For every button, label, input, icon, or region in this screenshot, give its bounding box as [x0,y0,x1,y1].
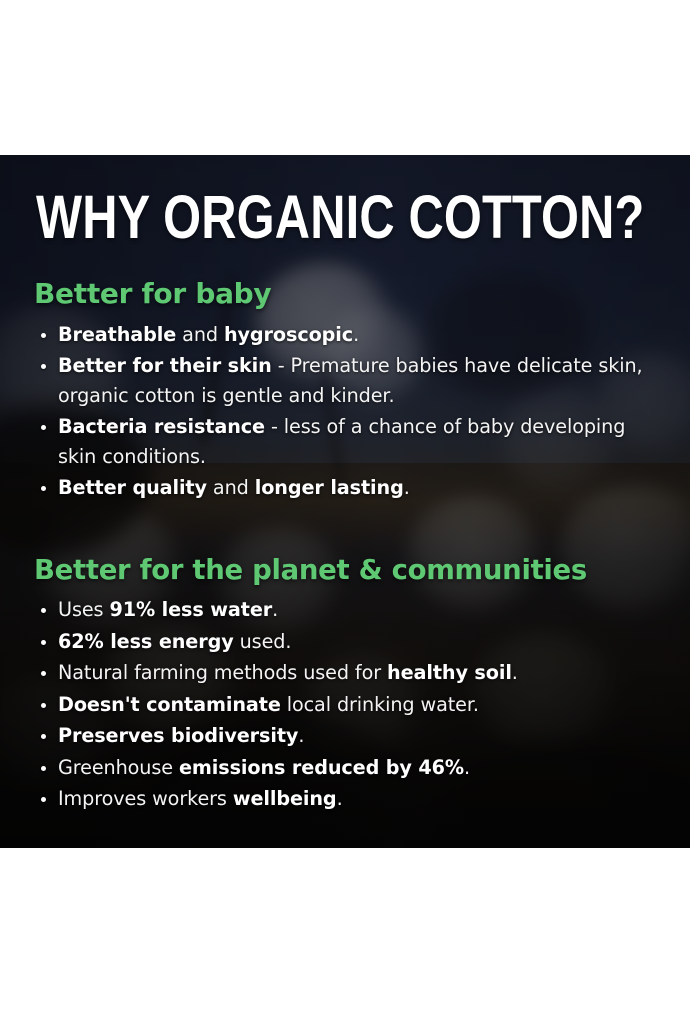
body-text: . [272,598,278,621]
section-better-for-baby: Better for baby Breathable and hygroscop… [30,279,668,505]
body-text: . [464,756,470,779]
bullet-list-baby: Breathable and hygroscopic.Better for th… [30,320,668,503]
list-item: Preserves biodiversity. [30,721,668,751]
emphasis-text: Preserves biodiversity [58,724,298,747]
list-item: Doesn't contaminate local drinking water… [30,690,668,720]
body-text: . [512,661,518,684]
list-item: Better for their skin - Premature babies… [30,351,668,410]
emphasis-text: emissions reduced by 46% [179,756,464,779]
body-text: local drinking water. [281,693,479,716]
emphasis-text: Doesn't contaminate [58,693,281,716]
body-text: used. [234,630,292,653]
list-item: Bacteria resistance - less of a chance o… [30,412,668,471]
body-text: Natural farming methods used for [58,661,387,684]
list-item: Greenhouse emissions reduced by 46%. [30,753,668,783]
emphasis-text: wellbeing [233,787,337,810]
emphasis-text: Better for their skin [58,354,272,377]
bullet-list-planet: Uses 91% less water.62% less energy used… [30,595,668,814]
body-text: Uses [58,598,109,621]
emphasis-text: hygroscopic [224,323,353,346]
emphasis-text: Better quality [58,476,207,499]
emphasis-text: Bacteria resistance [58,415,265,438]
list-item: Better quality and longer lasting. [30,473,668,503]
emphasis-text: healthy soil [387,661,512,684]
body-text: . [298,724,304,747]
body-text: . [404,476,410,499]
emphasis-text: 62% less energy [58,630,234,653]
list-item: Uses 91% less water. [30,595,668,625]
body-text: Improves workers [58,787,233,810]
body-text: Greenhouse [58,756,179,779]
section-heading: Better for the planet & communities [34,555,668,585]
body-text: . [353,323,359,346]
list-item: Natural farming methods used for healthy… [30,658,668,688]
body-text: and [176,323,224,346]
body-text: . [337,787,343,810]
body-text: and [207,476,255,499]
page-title: WHY ORGANIC COTTON? [36,188,645,248]
infographic-panel: WHY ORGANIC COTTON? Better for baby Brea… [0,155,690,848]
list-item: 62% less energy used. [30,627,668,657]
list-item: Improves workers wellbeing. [30,784,668,814]
emphasis-text: 91% less water [109,598,272,621]
section-better-for-planet: Better for the planet & communities Uses… [30,555,668,816]
list-item: Breathable and hygroscopic. [30,320,668,350]
emphasis-text: longer lasting [255,476,404,499]
emphasis-text: Breathable [58,323,176,346]
section-heading: Better for baby [34,279,668,310]
page-root: WHY ORGANIC COTTON? Better for baby Brea… [0,0,690,1024]
infographic-content: WHY ORGANIC COTTON? Better for baby Brea… [0,155,690,848]
